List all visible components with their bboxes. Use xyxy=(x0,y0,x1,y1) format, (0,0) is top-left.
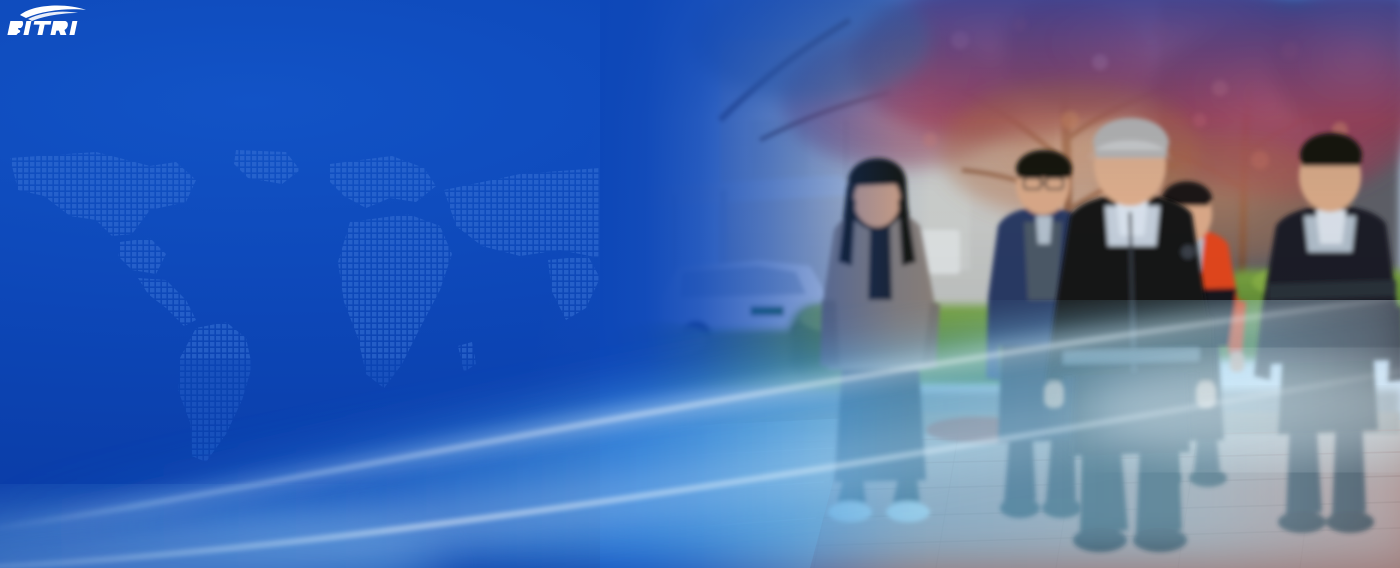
bitri-logo xyxy=(0,4,96,40)
strategic-positioning-banner: 战略定位 Strategic positioning 立足一轻 服务主业 面向市… xyxy=(0,0,1400,568)
glowing-horizon-arcs-icon xyxy=(0,300,1400,568)
